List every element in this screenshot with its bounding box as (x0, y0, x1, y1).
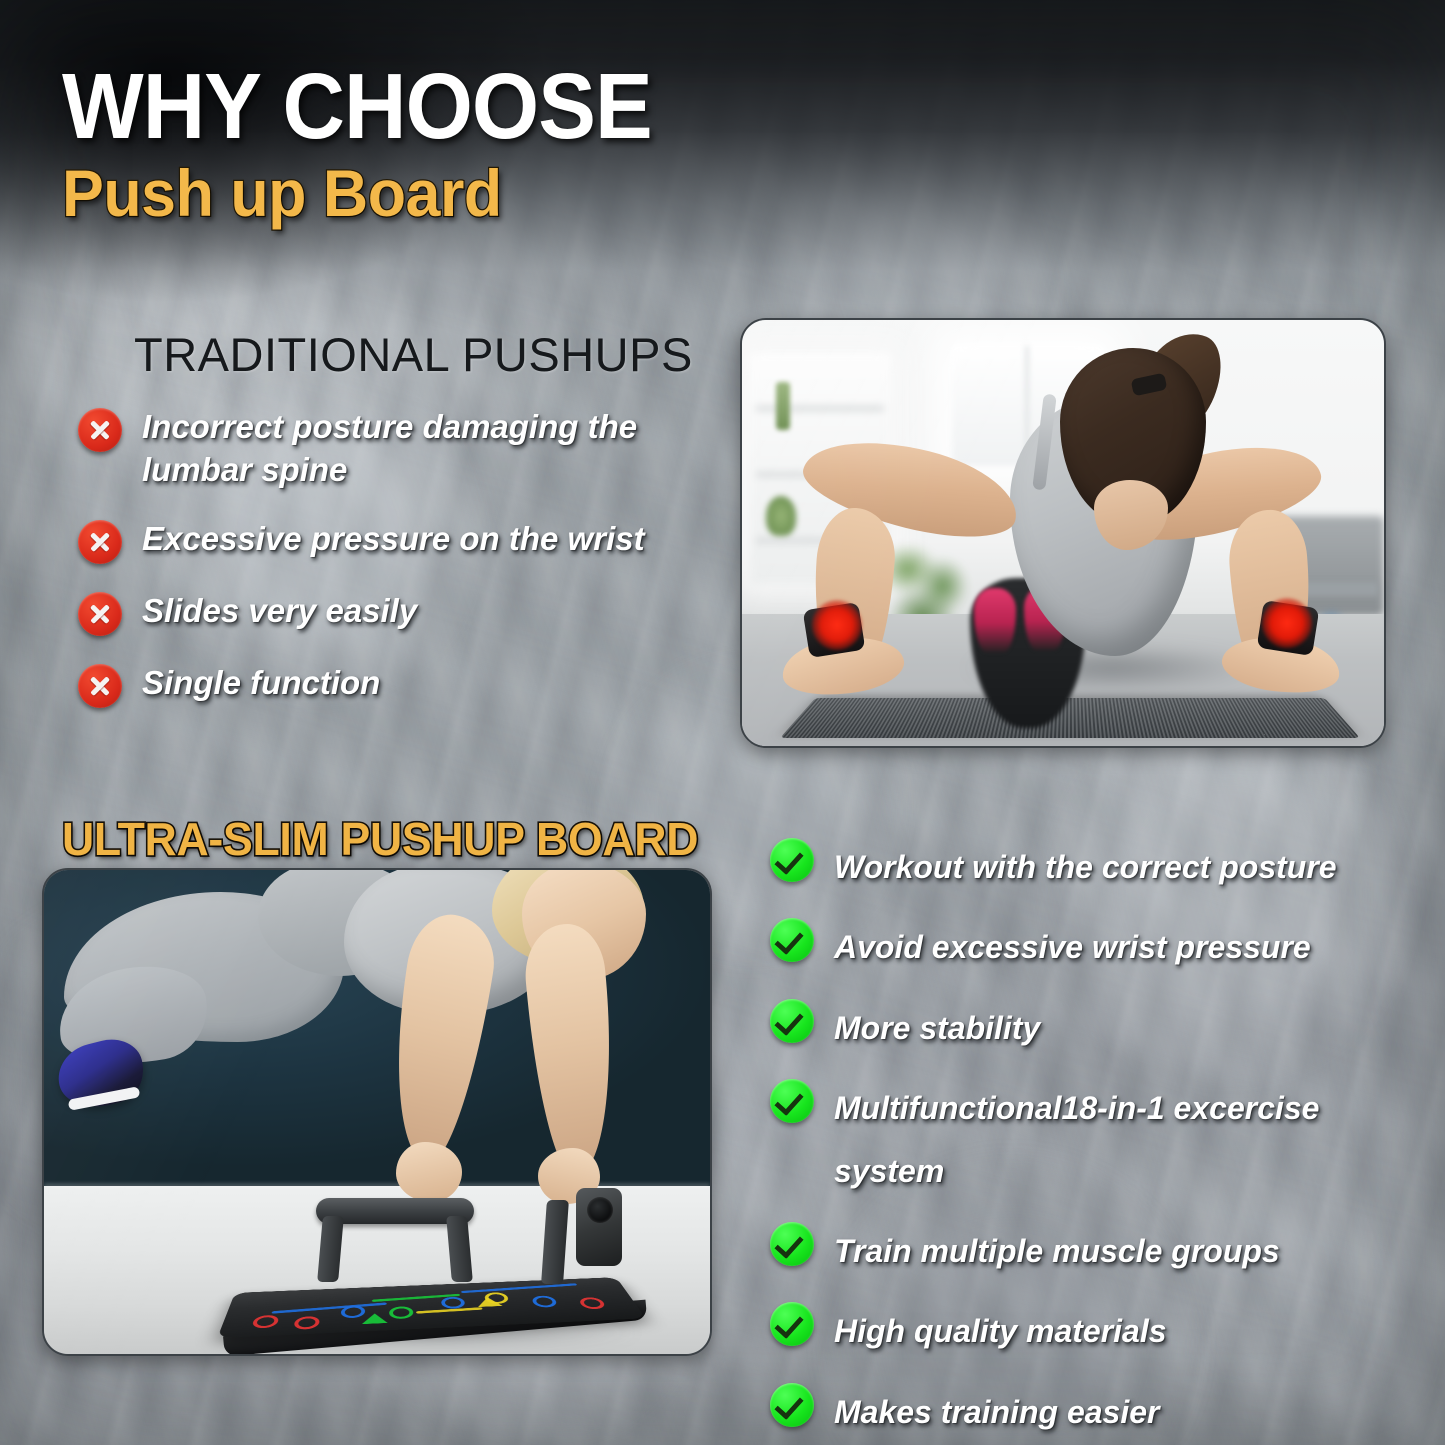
check-circle-icon (770, 918, 814, 962)
traditional-drawbacks-list: Incorrect posture damaging the lumbar sp… (78, 406, 738, 734)
wrist-strain-indicator-right (1262, 598, 1312, 648)
pushup-board-photo (42, 868, 712, 1356)
list-item-label: Single function (122, 662, 738, 705)
x-circle-icon (78, 592, 122, 636)
list-item-label: Makes training easier (814, 1381, 1420, 1443)
list-item-label: Slides very easily (122, 590, 738, 633)
list-item-label: High quality materials (814, 1300, 1420, 1362)
photo-bottle (776, 382, 790, 430)
traditional-pushup-photo (740, 318, 1386, 748)
board-section-heading: ULTRA-SLIM PUSHUP BOARD (62, 812, 698, 866)
list-item: Makes training easier (770, 1381, 1420, 1443)
list-item: More stability (770, 997, 1420, 1059)
check-circle-icon (770, 999, 814, 1043)
list-item-label: Excessive pressure on the wrist (122, 518, 738, 561)
list-item-label: More stability (814, 997, 1420, 1059)
list-item: Multifunctional18-in-1 excercise system (770, 1077, 1420, 1202)
list-item-label: Avoid excessive wrist pressure (814, 916, 1420, 978)
list-item: Incorrect posture damaging the lumbar sp… (78, 406, 738, 492)
page-title-secondary: Push up Board (62, 160, 664, 226)
check-circle-icon (770, 1079, 814, 1123)
photo-plant-small (766, 496, 796, 536)
photo-yoga-mat (780, 698, 1360, 738)
list-item: Excessive pressure on the wrist (78, 518, 738, 564)
check-circle-icon (770, 838, 814, 882)
list-item-label: Incorrect posture damaging the lumbar sp… (122, 406, 738, 492)
list-item-label: Multifunctional18-in-1 excercise system (814, 1077, 1420, 1202)
list-item: High quality materials (770, 1300, 1420, 1362)
traditional-section-heading: TRADITIONAL PUSHUPS (134, 327, 693, 382)
list-item: Avoid excessive wrist pressure (770, 916, 1420, 978)
check-circle-icon (770, 1302, 814, 1346)
list-item: Workout with the correct posture (770, 836, 1420, 898)
list-item-label: Workout with the correct posture (814, 836, 1420, 898)
photo-fist-left (396, 1142, 462, 1202)
photo-board-handle-left (316, 1198, 474, 1280)
page-title-block: WHY CHOOSE Push up Board (62, 62, 696, 226)
x-circle-icon (78, 664, 122, 708)
board-benefits-list: Workout with the correct posture Avoid e… (770, 836, 1420, 1445)
photo-shoe-left (974, 588, 1016, 652)
x-circle-icon (78, 408, 122, 452)
photo-board-handle-right (544, 1188, 622, 1284)
list-item: Train multiple muscle groups (770, 1220, 1420, 1282)
list-item: Slides very easily (78, 590, 738, 636)
page-title-primary: WHY CHOOSE (62, 62, 652, 151)
list-item: Single function (78, 662, 738, 708)
wrist-strain-indicator-left (812, 600, 862, 650)
check-circle-icon (770, 1383, 814, 1427)
check-circle-icon (770, 1222, 814, 1266)
list-item-label: Train multiple muscle groups (814, 1220, 1420, 1282)
x-circle-icon (78, 520, 122, 564)
